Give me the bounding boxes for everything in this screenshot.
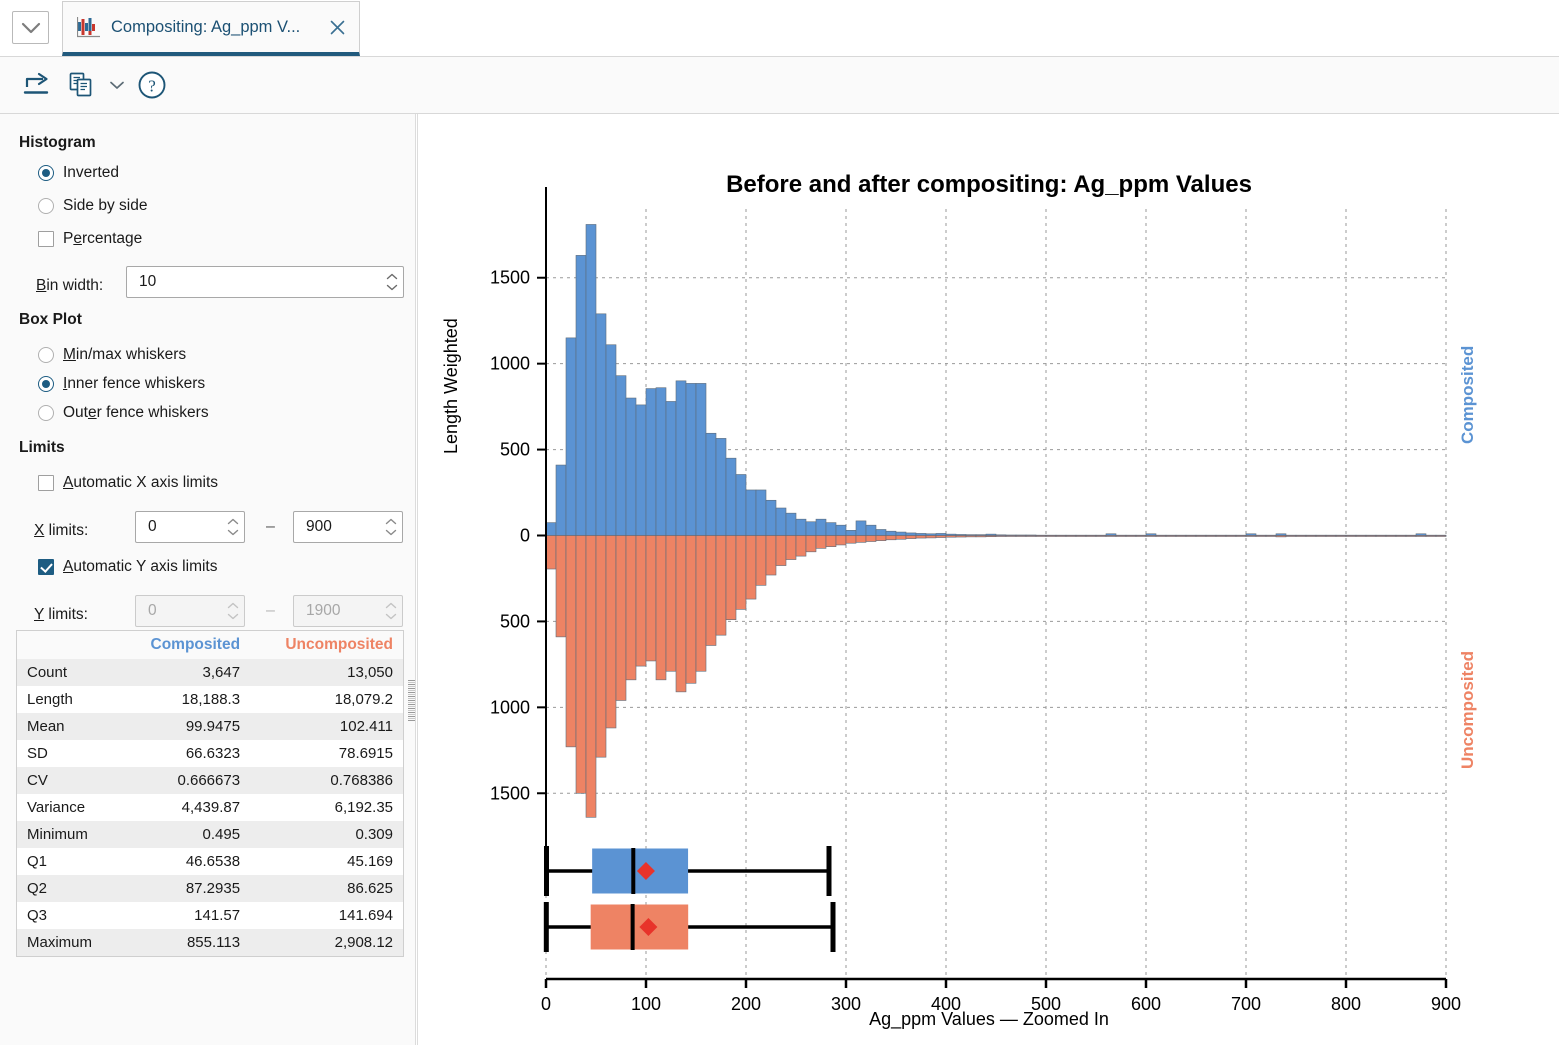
table-row: CV0.6666730.768386	[17, 767, 403, 794]
y-limits-separator: –	[266, 602, 275, 620]
bin-width-arrows[interactable]	[381, 267, 403, 297]
stat-composited-value: 141.57	[119, 902, 250, 929]
x-limits-label: X limits:	[34, 522, 88, 540]
radio-inner-fence-whiskers[interactable]: Inner fence whiskers	[38, 375, 205, 393]
radio-inverted[interactable]: Inverted	[38, 164, 119, 182]
checkbox-indicator	[38, 231, 54, 247]
stat-composited-value: 99.9475	[119, 713, 250, 740]
stat-name: Q1	[17, 848, 119, 875]
bin-width-stepper[interactable]	[126, 266, 404, 298]
stat-uncomposited-value: 6,192.35	[250, 794, 403, 821]
stat-composited-value: 855.113	[119, 929, 250, 956]
stat-uncomposited-value: 2,908.12	[250, 929, 403, 956]
svg-text:1000: 1000	[490, 697, 530, 717]
radio-indicator	[38, 165, 54, 181]
radio-inner-fence-whiskers-label: Inner fence whiskers	[63, 375, 205, 393]
share-arrow-icon	[23, 71, 53, 99]
stat-uncomposited-value: 141.694	[250, 902, 403, 929]
compositing-histogram-window: Compositing: Ag_ppm V...	[0, 0, 1559, 1045]
radio-indicator	[38, 376, 54, 392]
chevron-down-icon	[20, 21, 42, 35]
checkbox-percentage-label: Percentage	[63, 230, 142, 248]
radio-side-by-side-label: Side by side	[63, 197, 147, 215]
table-row: Minimum0.4950.309	[17, 821, 403, 848]
stat-name: Count	[17, 659, 119, 686]
table-row: Q3141.57141.694	[17, 902, 403, 929]
stat-composited-value: 0.495	[119, 821, 250, 848]
radio-outer-fence-whiskers[interactable]: Outer fence whiskers	[38, 404, 209, 422]
question-mark-icon: ?	[136, 69, 168, 101]
svg-text:500: 500	[1031, 994, 1061, 1014]
radio-indicator	[38, 405, 54, 421]
radio-inverted-label: Inverted	[63, 164, 119, 182]
export-button[interactable]	[16, 64, 60, 106]
stat-name: Q2	[17, 875, 119, 902]
stat-uncomposited-value: 0.309	[250, 821, 403, 848]
stat-composited-value: 3,647	[119, 659, 250, 686]
chevron-down-icon	[108, 79, 126, 91]
x-limit-min-input[interactable]	[136, 512, 222, 542]
svg-text:300: 300	[831, 994, 861, 1014]
stats-col-uncomposited: Uncomposited	[250, 631, 403, 659]
y-limit-max-stepper	[293, 595, 403, 627]
radio-min-max-whiskers-label: Min/max whiskers	[63, 346, 186, 364]
checkbox-automatic-y-axis-limits[interactable]: Automatic Y axis limits	[38, 558, 217, 576]
svg-text:600: 600	[1131, 994, 1161, 1014]
stat-name: Q3	[17, 902, 119, 929]
collapse-panel-button[interactable]	[12, 11, 49, 44]
settings-sidebar: Histogram Inverted Side by side Percenta…	[0, 114, 416, 1045]
y-limit-min-stepper	[135, 595, 245, 627]
histogram-box-plot-chart[interactable]: 1500100050005001000150001002003004005006…	[418, 114, 1559, 1045]
y-limit-min-input	[136, 596, 222, 626]
radio-side-by-side[interactable]: Side by side	[38, 197, 147, 215]
svg-text:1500: 1500	[490, 268, 530, 288]
copy-button[interactable]	[60, 64, 104, 106]
x-limit-min-arrows[interactable]	[222, 512, 244, 542]
stat-composited-value: 18,188.3	[119, 686, 250, 713]
bar-chart-icon	[77, 16, 101, 38]
svg-text:1000: 1000	[490, 354, 530, 374]
svg-text:900: 900	[1431, 994, 1461, 1014]
table-row: Length18,188.318,079.2	[17, 686, 403, 713]
stat-uncomposited-value: 45.169	[250, 848, 403, 875]
stats-col-name	[17, 631, 119, 659]
svg-text:1500: 1500	[490, 783, 530, 803]
radio-outer-fence-whiskers-label: Outer fence whiskers	[63, 404, 209, 422]
sidebar-splitter-handle[interactable]	[408, 680, 416, 722]
checkbox-indicator	[38, 475, 54, 491]
bin-width-label: Bin width:	[36, 277, 103, 295]
y-limit-max-input	[294, 596, 380, 626]
stats-col-composited: Composited	[119, 631, 250, 659]
x-limit-max-arrows[interactable]	[380, 512, 402, 542]
stat-uncomposited-value: 78.6915	[250, 740, 403, 767]
checkbox-indicator	[38, 559, 54, 575]
copy-dropdown-button[interactable]	[104, 64, 130, 106]
x-limits-separator: –	[266, 518, 275, 536]
table-row: Q287.293586.625	[17, 875, 403, 902]
table-header-row: Composited Uncomposited	[17, 631, 403, 659]
stat-composited-value: 66.6323	[119, 740, 250, 767]
x-limit-min-stepper[interactable]	[135, 511, 245, 543]
stat-name: Minimum	[17, 821, 119, 848]
close-icon[interactable]	[325, 15, 349, 39]
stat-uncomposited-value: 0.768386	[250, 767, 403, 794]
table-row: Variance4,439.876,192.35	[17, 794, 403, 821]
stat-uncomposited-value: 13,050	[250, 659, 403, 686]
stat-name: Mean	[17, 713, 119, 740]
stat-composited-value: 0.666673	[119, 767, 250, 794]
svg-text:100: 100	[631, 994, 661, 1014]
radio-indicator	[38, 347, 54, 363]
help-button[interactable]: ?	[130, 64, 174, 106]
svg-text:800: 800	[1331, 994, 1361, 1014]
y-limit-max-arrows	[380, 596, 402, 626]
svg-text:0: 0	[520, 526, 530, 546]
table-row: Q146.653845.169	[17, 848, 403, 875]
stat-uncomposited-value: 102.411	[250, 713, 403, 740]
stat-name: Variance	[17, 794, 119, 821]
checkbox-automatic-x-axis-limits[interactable]: Automatic X axis limits	[38, 474, 218, 492]
checkbox-automatic-y-axis-limits-label: Automatic Y axis limits	[63, 558, 217, 576]
svg-text:700: 700	[1231, 994, 1261, 1014]
y-limits-label: Y limits:	[34, 606, 88, 624]
statistics-table: Composited Uncomposited Count3,64713,050…	[16, 630, 404, 957]
tab-strip: Compositing: Ag_ppm V...	[0, 0, 1559, 57]
y-limit-min-arrows	[222, 596, 244, 626]
plot-panel: Before and after compositing: Ag_ppm Val…	[417, 114, 1559, 1045]
stat-uncomposited-value: 18,079.2	[250, 686, 403, 713]
tab-compositing[interactable]: Compositing: Ag_ppm V...	[62, 1, 360, 56]
limits-section-title: Limits	[19, 439, 65, 457]
tab-label: Compositing: Ag_ppm V...	[111, 18, 325, 37]
stat-name: Maximum	[17, 929, 119, 956]
stat-name: SD	[17, 740, 119, 767]
x-limit-max-input[interactable]	[294, 512, 380, 542]
stat-composited-value: 46.6538	[119, 848, 250, 875]
x-limit-max-stepper[interactable]	[293, 511, 403, 543]
histogram-section-title: Histogram	[19, 134, 96, 152]
svg-text:?: ?	[148, 77, 156, 96]
checkbox-percentage[interactable]: Percentage	[38, 230, 142, 248]
copy-pages-icon	[67, 71, 97, 99]
svg-text:0: 0	[541, 994, 551, 1014]
checkbox-automatic-x-axis-limits-label: Automatic X axis limits	[63, 474, 218, 492]
stat-composited-value: 87.2935	[119, 875, 250, 902]
bin-width-input[interactable]	[127, 267, 381, 297]
svg-text:400: 400	[931, 994, 961, 1014]
radio-min-max-whiskers[interactable]: Min/max whiskers	[38, 346, 186, 364]
stat-name: Length	[17, 686, 119, 713]
table-row: SD66.632378.6915	[17, 740, 403, 767]
table-row: Mean99.9475102.411	[17, 713, 403, 740]
svg-text:500: 500	[500, 611, 530, 631]
stat-composited-value: 4,439.87	[119, 794, 250, 821]
toolbar: ?	[0, 57, 1559, 114]
svg-text:500: 500	[500, 440, 530, 460]
stat-uncomposited-value: 86.625	[250, 875, 403, 902]
stat-name: CV	[17, 767, 119, 794]
radio-indicator	[38, 198, 54, 214]
table-row: Maximum855.1132,908.12	[17, 929, 403, 956]
box-plot-section-title: Box Plot	[19, 311, 82, 329]
svg-text:200: 200	[731, 994, 761, 1014]
table-row: Count3,64713,050	[17, 659, 403, 686]
